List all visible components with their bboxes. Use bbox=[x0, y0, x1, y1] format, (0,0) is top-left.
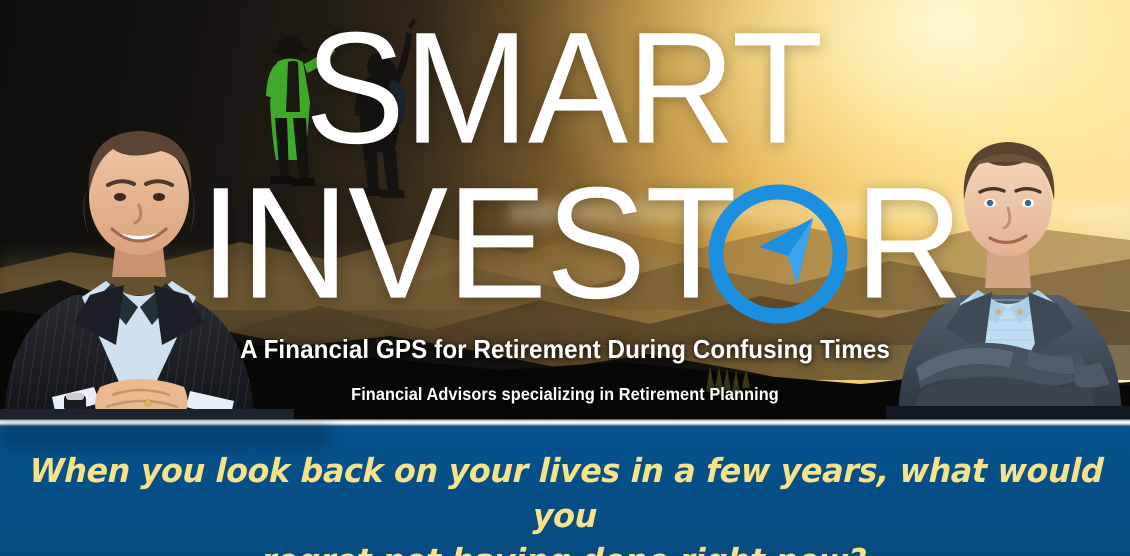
hero-photo: SMART INVEST R bbox=[0, 0, 1130, 419]
tagline-secondary: Financial Advisors specializing in Retir… bbox=[40, 384, 1091, 405]
advisor-portrait-right bbox=[886, 114, 1130, 419]
quote-band: When you look back on your lives in a fe… bbox=[0, 426, 1130, 556]
quote-line-2: regret not having done right now? bbox=[20, 538, 1106, 556]
quote-text: When you look back on your lives in a fe… bbox=[20, 448, 1109, 556]
quote-line-1: When you look back on your lives in a fe… bbox=[22, 448, 1110, 538]
section-divider bbox=[0, 419, 1130, 426]
advisor-portrait-left bbox=[0, 119, 294, 419]
smart-investor-banner: SMART INVEST R bbox=[0, 0, 1130, 556]
tagline-primary: A Financial GPS for Retirement During Co… bbox=[40, 334, 1091, 365]
